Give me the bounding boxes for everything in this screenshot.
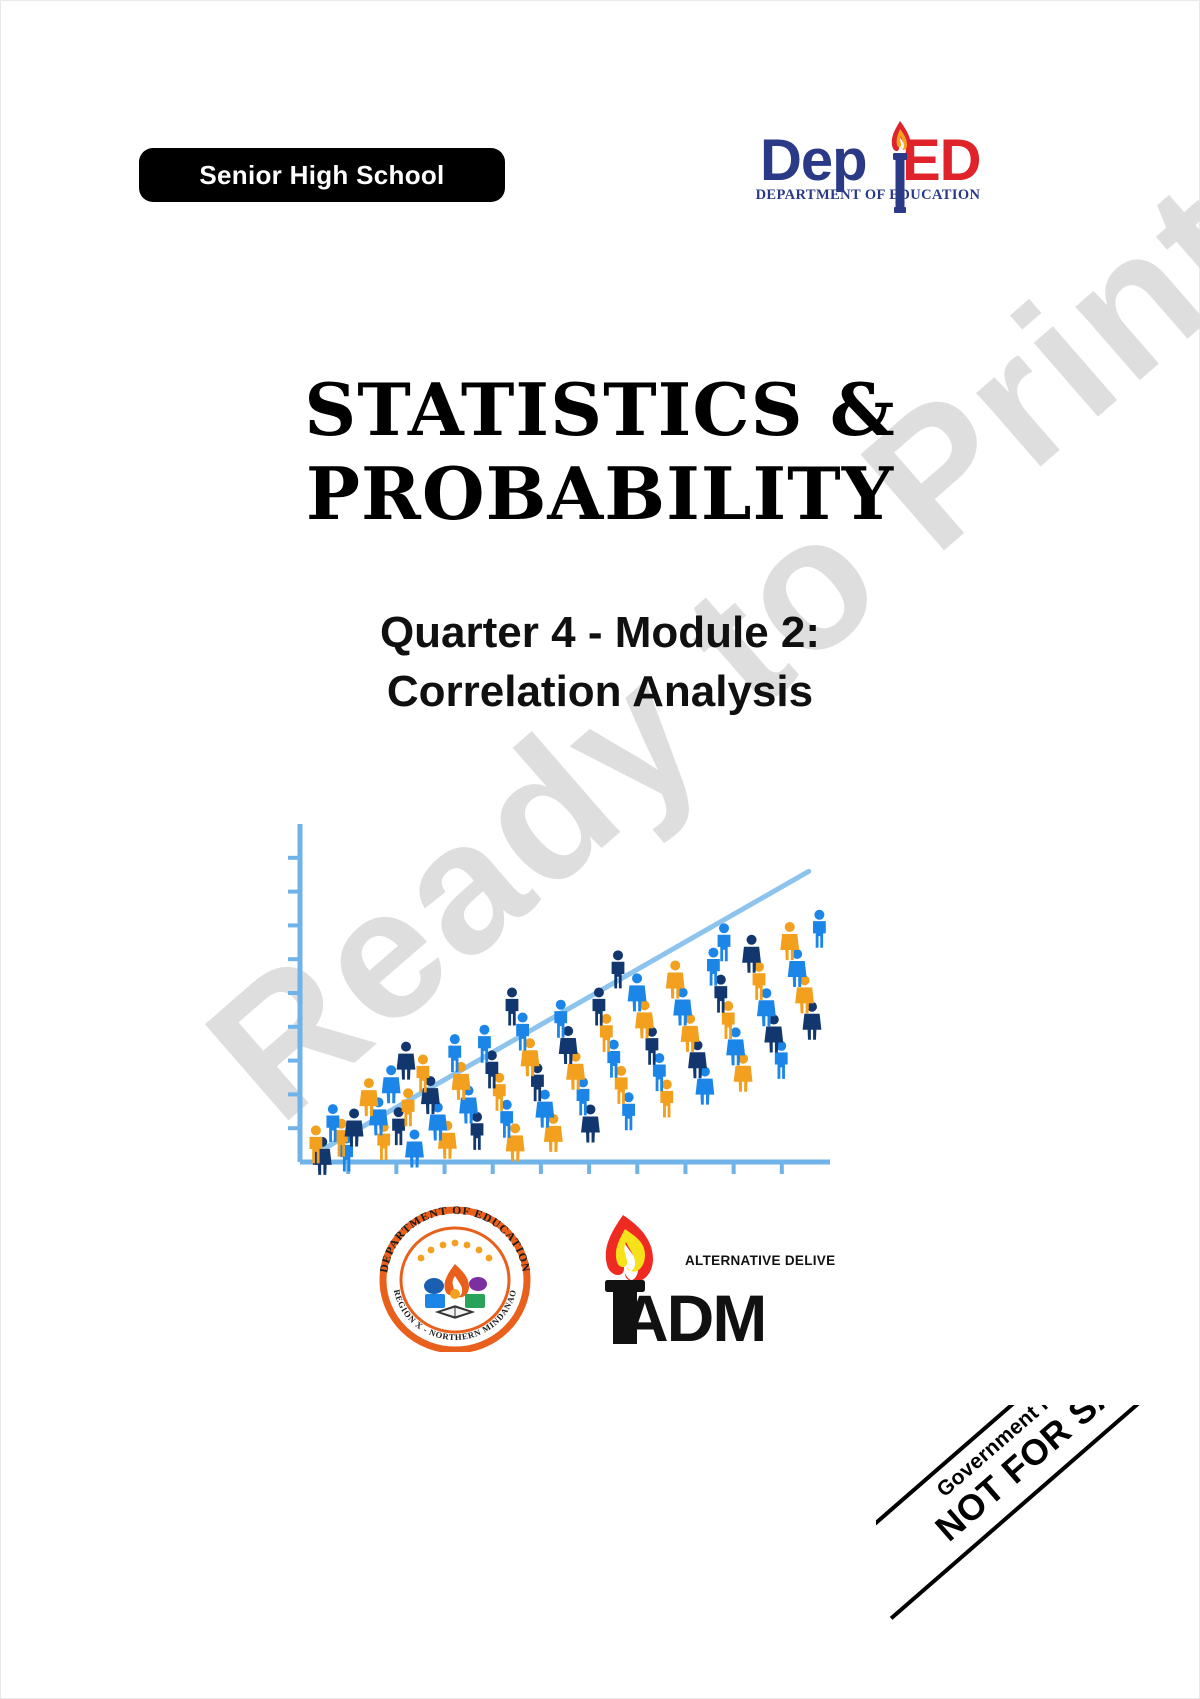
- page-title: STATISTICS & PROBABILITY: [0, 368, 1200, 536]
- deped-dep-text: Dep: [760, 127, 867, 194]
- adm-acronym-text: ADM: [621, 1281, 765, 1347]
- senior-high-school-label: Senior High School: [199, 160, 444, 191]
- subtitle-line-2: Correlation Analysis: [0, 663, 1200, 722]
- adm-logo: ALTERNATIVE DELIVERY MODE ADM: [585, 1207, 835, 1347]
- correlation-scatter-illustration: [278, 818, 834, 1188]
- module-cover-page: Ready to Print Senior High School Dep ED…: [0, 0, 1200, 1699]
- title-line-2: PROBABILITY: [0, 452, 1200, 536]
- deped-sub-text: DEPARTMENT OF EDUCATION: [752, 187, 984, 204]
- page-subtitle: Quarter 4 - Module 2: Correlation Analys…: [0, 604, 1200, 721]
- subtitle-line-1: Quarter 4 - Module 2:: [0, 604, 1200, 663]
- deped-logo: Dep ED DEPARTMENT OF EDUCATION: [752, 103, 984, 211]
- title-line-1: STATISTICS &: [0, 368, 1200, 452]
- deped-region-x-seal: DEPARTMENT OF EDUCATION REGION X - NORTH…: [365, 1202, 545, 1352]
- adm-tagline-text: ALTERNATIVE DELIVERY MODE: [685, 1253, 835, 1268]
- footer-logos: DEPARTMENT OF EDUCATION REGION X - NORTH…: [0, 1202, 1200, 1352]
- not-for-sale-corner-banner: Government Property NOT FOR SALE: [876, 1405, 1200, 1699]
- scatter-chart: [278, 818, 834, 1188]
- senior-high-school-badge: Senior High School: [139, 148, 505, 202]
- deped-wordmark: Dep ED: [752, 127, 984, 183]
